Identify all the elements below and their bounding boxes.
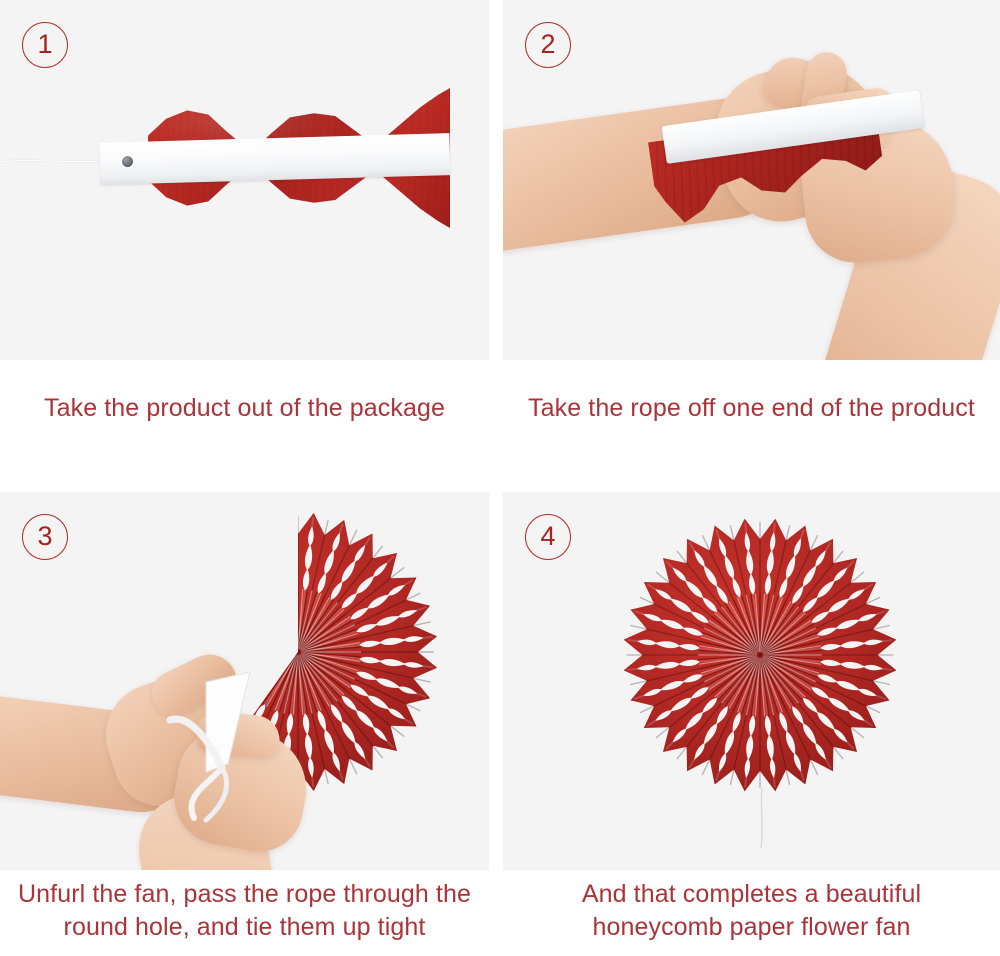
step-3-badge: 3 <box>22 514 68 560</box>
caption-line: round hole, and tie them up tight <box>18 911 471 944</box>
step-4-caption: And that completes a beautiful honeycomb… <box>503 878 1000 956</box>
eyelet-hole <box>122 156 133 167</box>
caption-line: honeycomb paper flower fan <box>582 911 921 944</box>
hanging-string <box>757 788 767 850</box>
caption-line: Unfurl the fan, pass the rope through th… <box>18 878 471 911</box>
caption-line: And that completes a beautiful <box>582 878 921 911</box>
step-3-image: 3 <box>0 492 489 870</box>
step-1-caption: Take the product out of the package <box>0 368 489 448</box>
step-1-image: 1 <box>0 0 489 360</box>
finished-honeycomb-fan <box>615 510 905 800</box>
instruction-sheet: 1 2 <box>0 0 1000 956</box>
step-4-image: 4 <box>503 492 1000 870</box>
step-1-badge: 1 <box>22 22 68 68</box>
white-ribbon <box>110 668 310 848</box>
folded-product <box>100 88 450 228</box>
step-4-badge: 4 <box>525 514 571 560</box>
step-3-caption: Unfurl the fan, pass the rope through th… <box>0 878 489 956</box>
step-2-caption: Take the rope off one end of the product <box>503 368 1000 448</box>
caption-line: Take the rope off one end of the product <box>528 392 975 425</box>
step-2-badge: 2 <box>525 22 571 68</box>
caption-line: Take the product out of the package <box>44 392 445 425</box>
step-2-image: 2 <box>503 0 1000 360</box>
